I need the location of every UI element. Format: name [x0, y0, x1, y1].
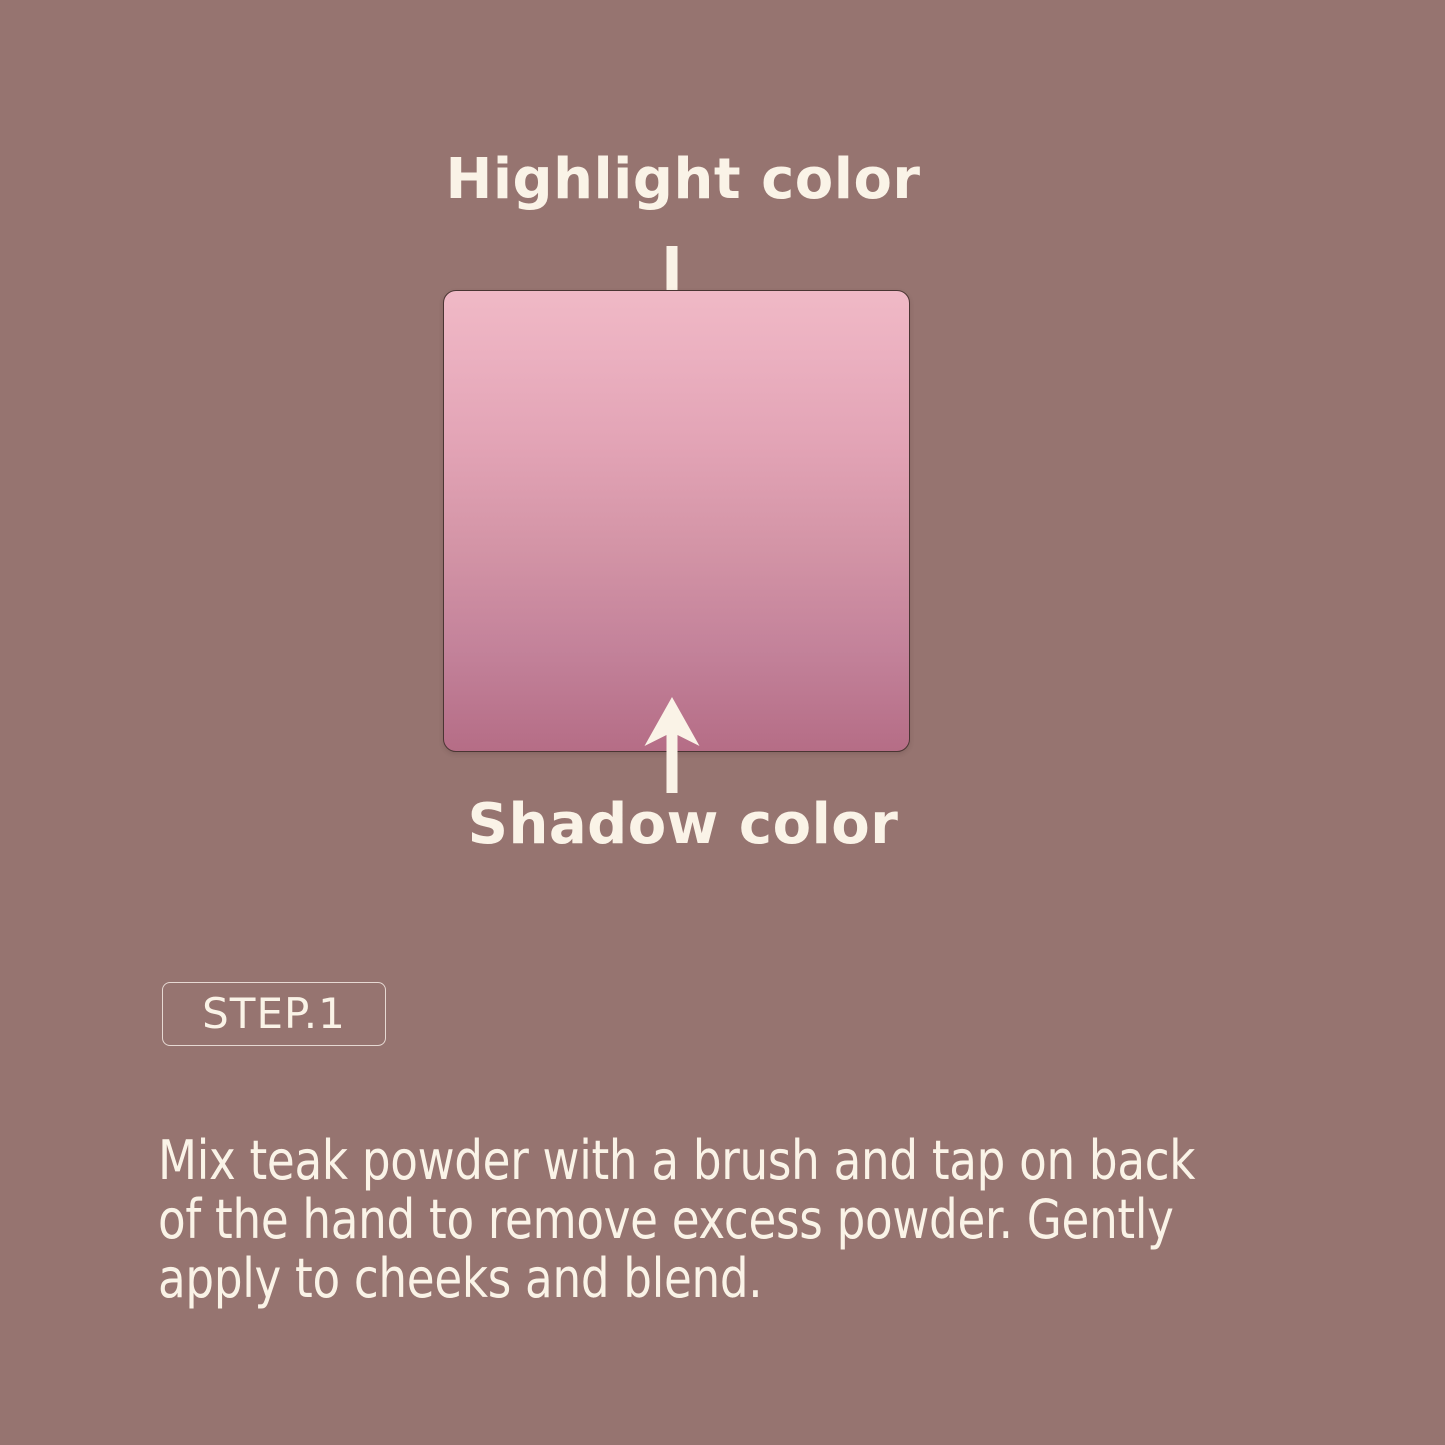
step-badge-label: STEP.1: [202, 993, 346, 1035]
shadow-color-label: Shadow color: [0, 797, 1366, 853]
color-swatch-section: Highlight color Shadow color: [0, 0, 1445, 930]
arrow-up-icon: [637, 697, 707, 793]
gradient-color-swatch: [443, 290, 910, 752]
step-description-text: Mix teak powder with a brush and tap on …: [158, 1132, 1228, 1309]
step-badge: STEP.1: [162, 982, 386, 1046]
product-instruction-card: Highlight color Shadow color STEP.1 Mix …: [0, 0, 1445, 1445]
highlight-color-label: Highlight color: [0, 152, 1366, 208]
